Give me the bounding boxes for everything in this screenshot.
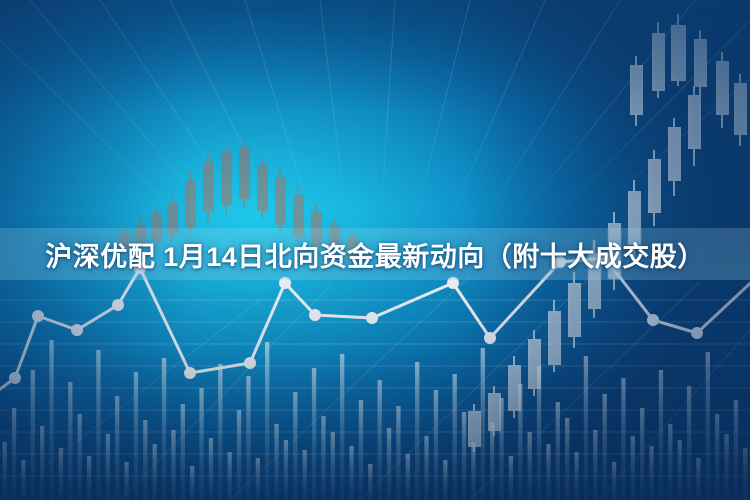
- stock-news-banner: 沪深优配 1月14日北向资金最新动向（附十大成交股）: [0, 0, 750, 500]
- page-title: 沪深优配 1月14日北向资金最新动向（附十大成交股）: [0, 231, 750, 277]
